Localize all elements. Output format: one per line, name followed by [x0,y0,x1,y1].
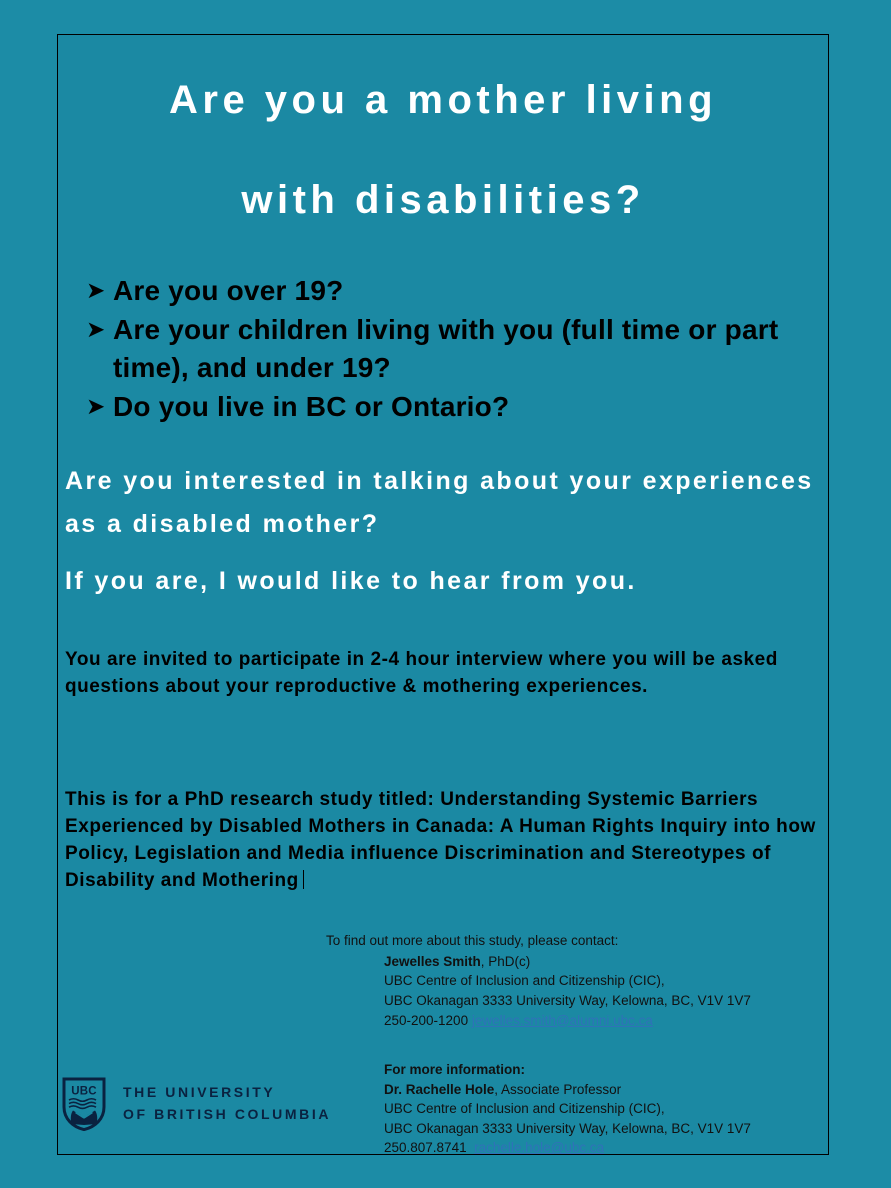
contact-address: UBC Okanagan 3333 University Way, Kelown… [384,991,826,1011]
ubc-wordmark-line-2: of British Columbia [123,1104,331,1126]
interest-question: Are you interested in talking about your… [65,460,825,546]
invitation-paragraph: You are invited to participate in 2-4 ho… [65,647,837,701]
contact-phone-email-line: 250.807.8741 rachelle.hole@ubc.ca [384,1138,826,1158]
list-item: ➤ Do you live in BC or Ontario? [86,388,802,427]
headline-line-2: with disabilities? [58,179,828,221]
contact-section: To find out more about this study, pleas… [326,932,826,1158]
poster-headline: Are you a mother living with disabilitie… [58,79,828,221]
contact-name: Dr. Rachelle Hole [384,1082,494,1097]
eligibility-list: ➤ Are you over 19? ➤ Are your children l… [86,272,802,427]
poster-frame: Are you a mother living with disabilitie… [57,34,829,1155]
contact-address: UBC Okanagan 3333 University Way, Kelown… [384,1119,826,1139]
contact-name-line: Dr. Rachelle Hole, Associate Professor [384,1080,826,1100]
contact-name-line: Jewelles Smith, PhD(c) [384,952,826,972]
eligibility-item-text: Do you live in BC or Ontario? [113,388,802,427]
contact-org: UBC Centre of Inclusion and Citizenship … [384,1099,826,1119]
contact-secondary: For more information: Dr. Rachelle Hole,… [384,1060,826,1158]
eligibility-item-text: Are your children living with you (full … [113,311,802,388]
arrow-bullet-icon: ➤ [86,311,113,348]
list-item: ➤ Are your children living with you (ful… [86,311,802,388]
interest-block: Are you interested in talking about your… [65,460,825,603]
ubc-logo-lockup: UBC The Universi [62,1077,331,1131]
headline-line-1: Are you a mother living [58,79,828,121]
study-title-text: This is for a PhD research study titled:… [65,789,816,891]
arrow-bullet-icon: ➤ [86,388,113,425]
ubc-shield-icon: UBC [62,1077,106,1131]
eligibility-item-text: Are you over 19? [113,272,802,311]
list-item: ➤ Are you over 19? [86,272,802,311]
poster-body: Are you a mother living with disabilitie… [58,35,828,1154]
svg-text:UBC: UBC [71,1086,97,1098]
more-information-heading: For more information: [384,1060,826,1080]
contact-lead: To find out more about this study, pleas… [326,932,826,950]
arrow-bullet-icon: ➤ [86,272,113,309]
ubc-wordmark: The University of British Columbia [123,1082,331,1125]
study-title-paragraph: This is for a PhD research study titled:… [65,787,837,895]
contact-email-link[interactable]: jewelles.smith@alumni.ubc.ca [472,1013,653,1028]
contact-phone-email-line: 250-200-1200 jewelles.smith@alumni.ubc.c… [384,1011,826,1031]
ubc-wordmark-line-1: The University [123,1082,331,1104]
spacer [65,546,825,560]
contact-phone: 250.807.8741 [384,1140,467,1155]
contact-email-link[interactable]: rachelle.hole@ubc.ca [474,1140,604,1155]
contact-org: UBC Centre of Inclusion and Citizenship … [384,971,826,991]
interest-invitation: If you are, I would like to hear from yo… [65,560,825,603]
contact-credential: , Associate Professor [494,1082,621,1097]
contact-name: Jewelles Smith [384,954,481,969]
contact-phone: 250-200-1200 [384,1013,468,1028]
contact-primary: Jewelles Smith, PhD(c) UBC Centre of Inc… [384,952,826,1030]
text-caret [303,870,304,889]
contact-credential: , PhD(c) [481,954,531,969]
